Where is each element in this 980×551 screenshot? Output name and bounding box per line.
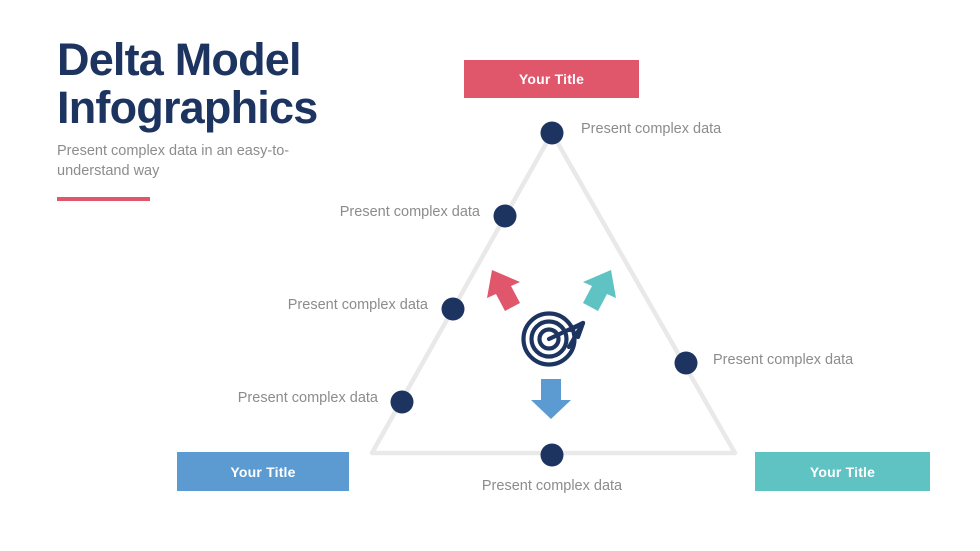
- node-label-bottom: Present complex data: [402, 478, 702, 494]
- title-box-bottom-right-label: Your Title: [810, 464, 875, 480]
- title-box-top-label: Your Title: [519, 71, 584, 87]
- node-label-left-upper: Present complex data: [170, 204, 480, 220]
- node-label-apex: Present complex data: [581, 121, 721, 137]
- title-box-bottom-left[interactable]: Your Title: [177, 452, 349, 491]
- arrow-up-left-icon: [487, 270, 520, 311]
- target-bullseye-icon: [524, 314, 584, 365]
- arrow-up-right-icon: [583, 270, 616, 311]
- title-box-bottom-left-label: Your Title: [230, 464, 295, 480]
- node-dot-left-upper[interactable]: [494, 205, 517, 228]
- node-label-right-middle: Present complex data: [713, 352, 853, 368]
- node-label-left-lower: Present complex data: [70, 390, 378, 406]
- node-label-left-middle: Present complex data: [120, 297, 428, 313]
- node-dot-apex[interactable]: [541, 122, 564, 145]
- node-dot-right-middle[interactable]: [675, 352, 698, 375]
- node-dot-left-middle[interactable]: [442, 298, 465, 321]
- slide-canvas: Delta Model Infographics Present complex…: [0, 0, 980, 551]
- title-box-bottom-right[interactable]: Your Title: [755, 452, 930, 491]
- node-dot-bottom[interactable]: [541, 444, 564, 467]
- arrow-down-icon: [531, 379, 571, 419]
- node-dot-left-lower[interactable]: [391, 391, 414, 414]
- title-box-top[interactable]: Your Title: [464, 60, 639, 98]
